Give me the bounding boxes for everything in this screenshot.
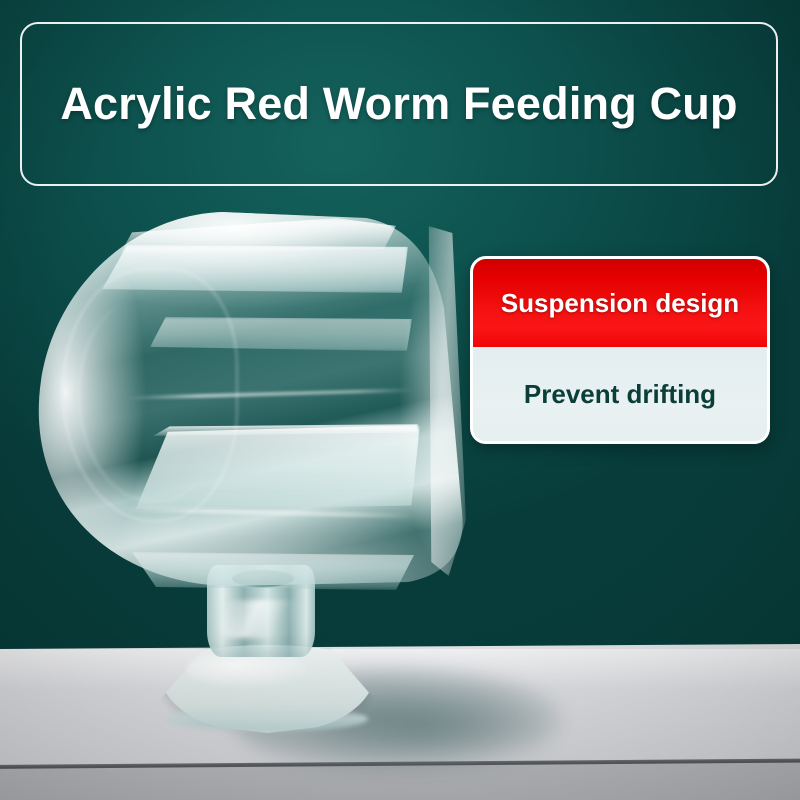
page-title: Acrylic Red Worm Feeding Cup — [60, 78, 737, 130]
feature-headline: Suspension design — [501, 288, 739, 319]
feature-card-header: Suspension design — [473, 259, 767, 347]
title-frame: Acrylic Red Worm Feeding Cup — [20, 22, 778, 186]
feature-card-body: Prevent drifting — [473, 347, 767, 441]
feature-card: Suspension design Prevent drifting — [470, 256, 770, 444]
feature-subline: Prevent drifting — [524, 379, 716, 410]
product-image-canvas: Acrylic Red Worm Feeding Cup Suspension … — [0, 0, 800, 800]
